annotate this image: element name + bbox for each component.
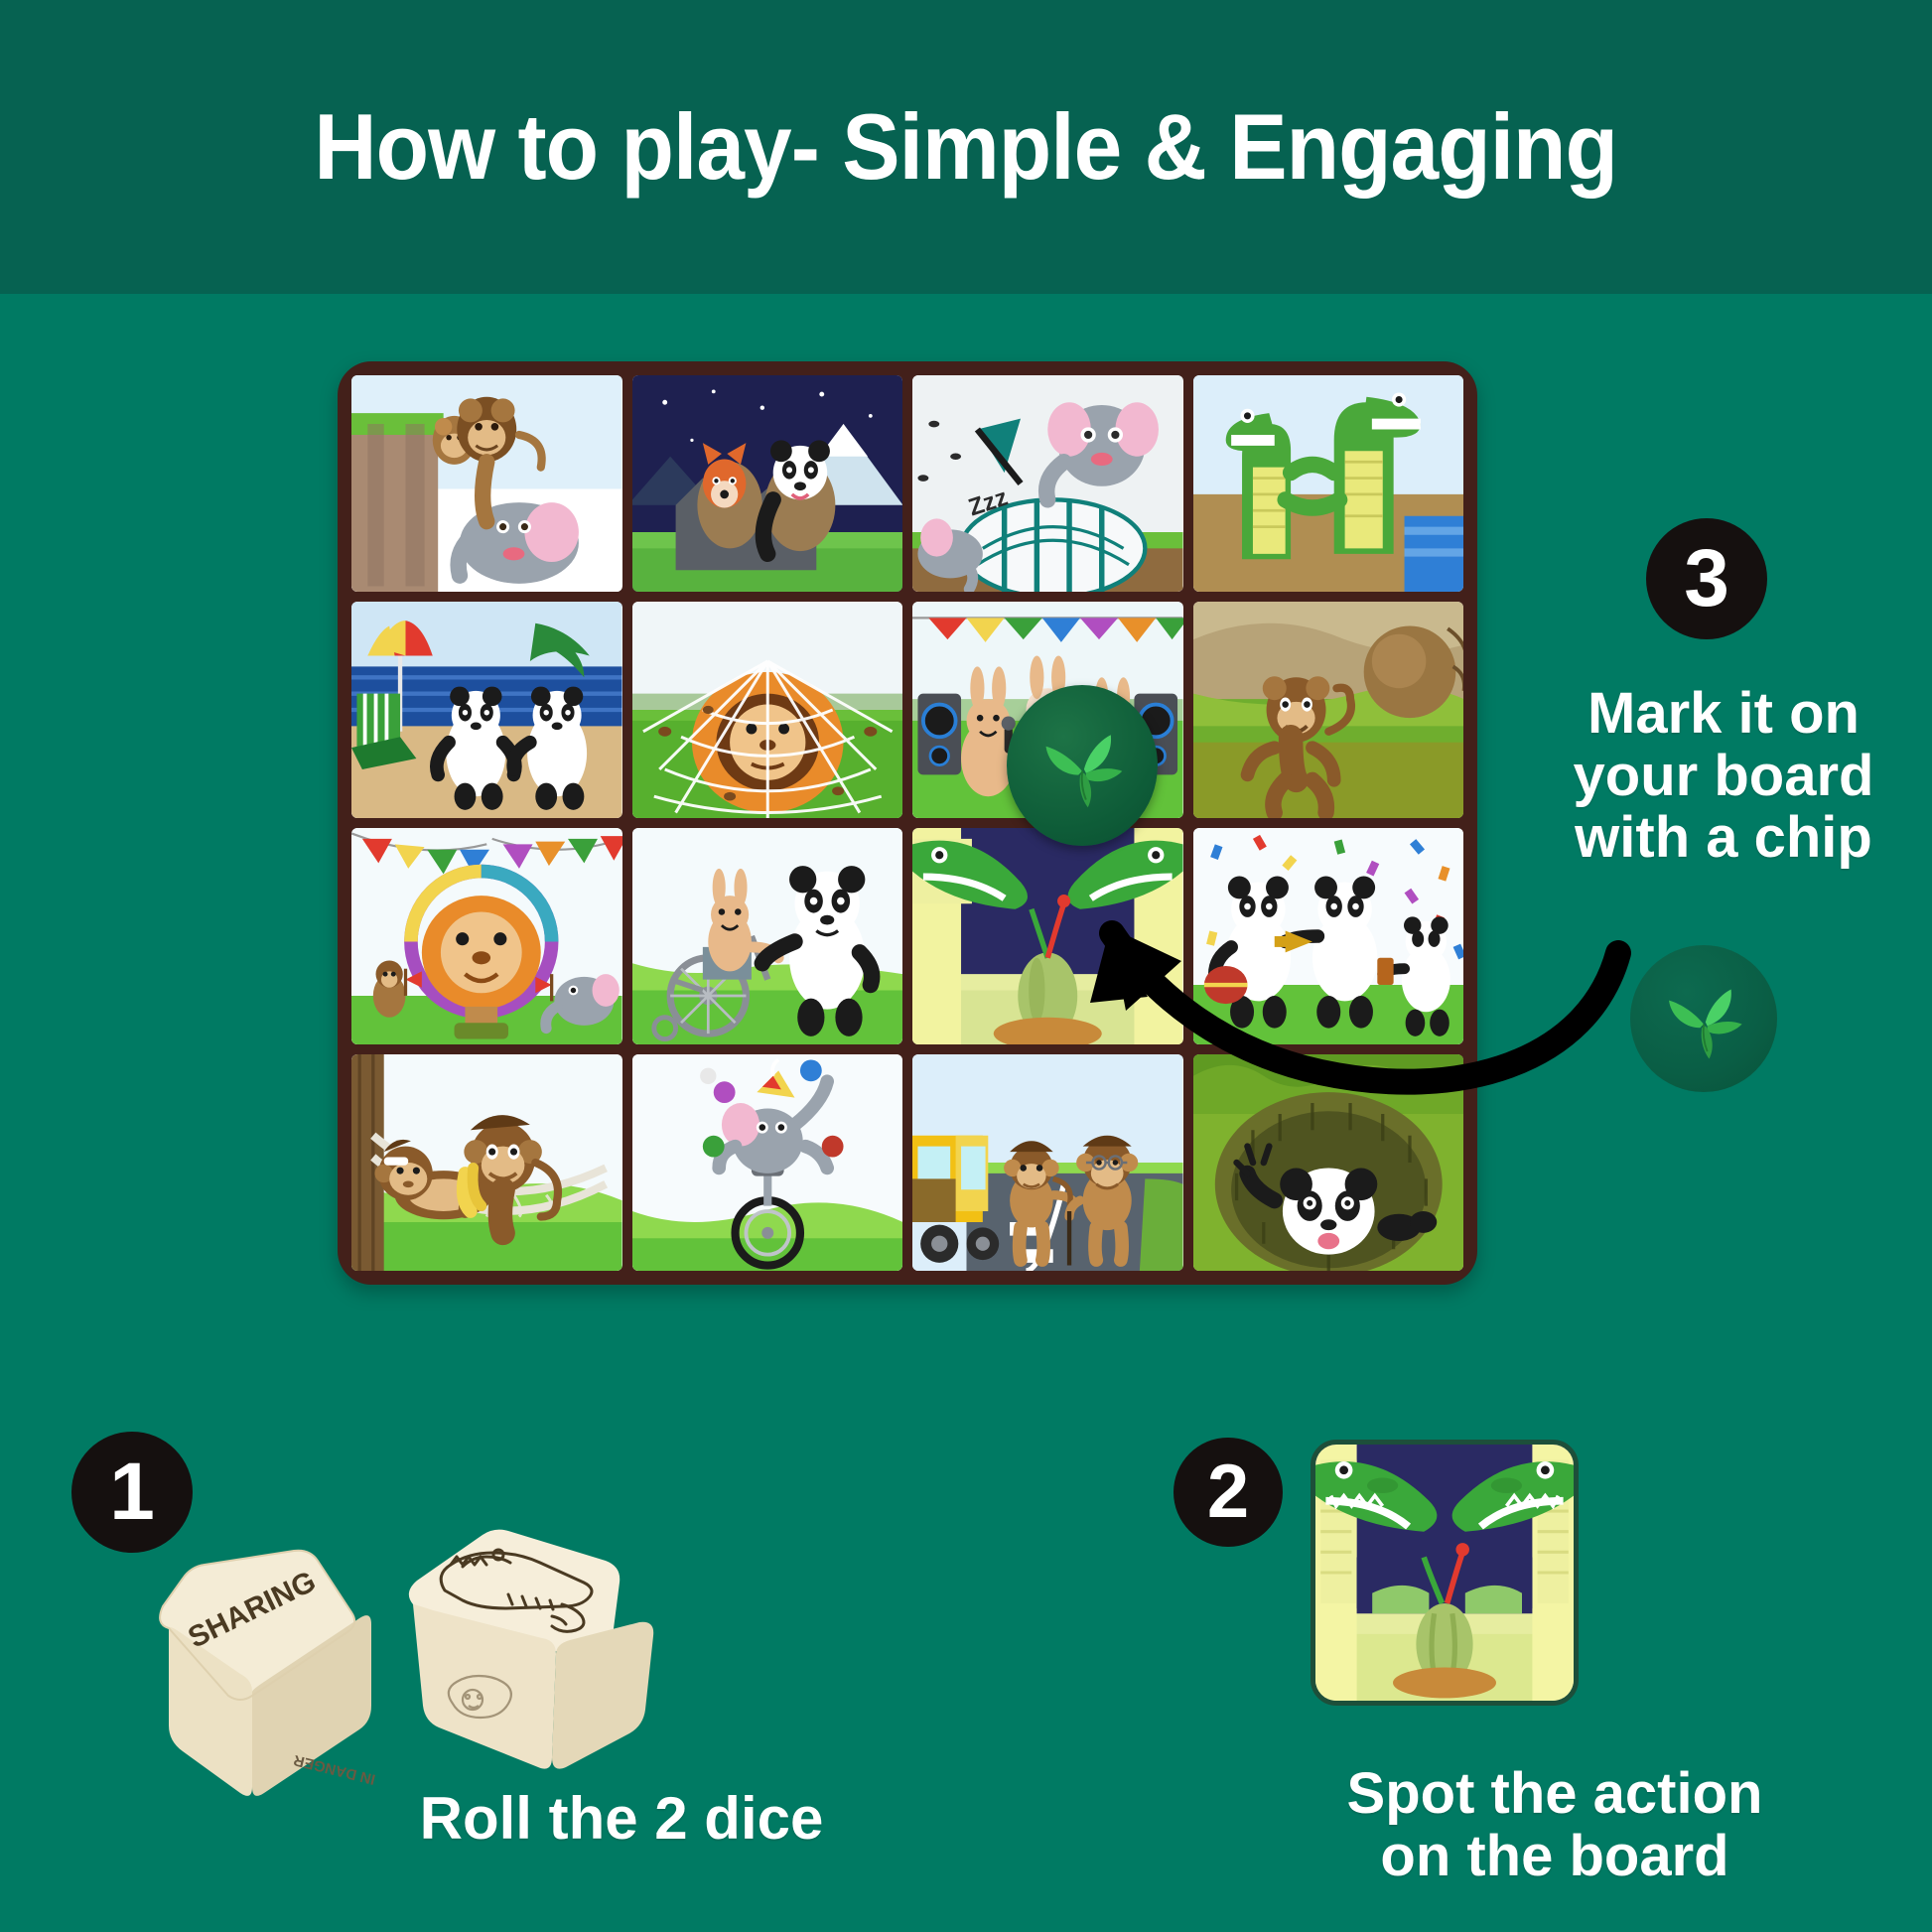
board-cell-r2c4[interactable] [1193, 602, 1464, 818]
step-3-caption-line1: Mark it on [1525, 683, 1922, 746]
step-2-badge: 2 [1173, 1438, 1283, 1547]
panda-stuck-in-hole-icon [1193, 1054, 1464, 1271]
board-cell-r3c1[interactable] [351, 828, 622, 1044]
leaf-icon [1035, 718, 1130, 813]
board-cell-r4c2[interactable] [632, 1054, 903, 1271]
die-sharing[interactable]: SHARING IN DANGER [160, 1551, 377, 1796]
board-cell-r1c2[interactable] [632, 375, 903, 592]
board-chip-marker[interactable] [1007, 685, 1158, 846]
step-3-caption-line2: your board [1525, 746, 1922, 808]
board-cell-r1c3[interactable]: Zzz [912, 375, 1183, 592]
step-3-caption: Mark it on your board with a chip [1525, 683, 1922, 870]
monkeys-hammock-banana-icon [351, 1054, 622, 1271]
step-1-caption: Roll the 2 dice [284, 1787, 959, 1852]
step-2-caption-line1: Spot the action [1207, 1763, 1902, 1826]
board-cell-r1c1[interactable] [351, 375, 622, 592]
board-cell-r4c4[interactable] [1193, 1054, 1464, 1271]
board-cell-r3c3[interactable] [912, 828, 1183, 1044]
crocodiles-sharing-coconut-icon [1315, 1445, 1574, 1701]
page-header: How to play- Simple & Engaging [0, 0, 1932, 294]
game-board[interactable]: Zzz [338, 361, 1477, 1285]
board-cell-r4c3[interactable] [912, 1054, 1183, 1271]
dice-group[interactable]: SHARING IN DANGER [99, 1509, 755, 1827]
monkey-running-from-boulder-icon [1193, 602, 1464, 818]
panda-pushing-wheelchair-icon [632, 828, 903, 1044]
lion-jumping-hoop-icon [351, 828, 622, 1044]
step-2-caption-line2: on the board [1207, 1826, 1902, 1888]
monkeys-helping-elephant-icon [351, 375, 622, 592]
monkeys-crossing-road-icon [912, 1054, 1183, 1271]
lion-in-spider-web-icon [632, 602, 903, 818]
board-cell-r2c1[interactable] [351, 602, 622, 818]
chip-token[interactable] [1630, 945, 1777, 1092]
elephant-juggling-unicycle-icon [632, 1054, 903, 1271]
fox-panda-sharing-blanket-icon [632, 375, 903, 592]
page-title: How to play- Simple & Engaging [315, 93, 1618, 201]
step-2-card[interactable] [1311, 1440, 1579, 1706]
die-crocodile[interactable] [409, 1530, 653, 1769]
step-3-caption-line3: with a chip [1525, 807, 1922, 870]
crocodiles-hugging-icon [1193, 375, 1464, 592]
leaf-icon [1658, 973, 1749, 1064]
board-cell-r4c1[interactable] [351, 1054, 622, 1271]
board-cell-r3c4[interactable] [1193, 828, 1464, 1044]
board-cell-r1c4[interactable] [1193, 375, 1464, 592]
crocodiles-sharing-coconut-icon [912, 828, 1183, 1044]
pandas-beach-icon [351, 602, 622, 818]
board-cell-r3c2[interactable] [632, 828, 903, 1044]
step-2-caption: Spot the action on the board [1207, 1763, 1902, 1887]
die-side-face-text: IN DANGER [292, 1751, 377, 1788]
board-cell-r2c2[interactable] [632, 602, 903, 818]
elephant-fanning-sleeper-icon: Zzz [912, 375, 1183, 592]
pandas-parade-confetti-icon [1193, 828, 1464, 1044]
step-3-badge: 3 [1646, 518, 1767, 639]
board-grid: Zzz [351, 375, 1463, 1271]
